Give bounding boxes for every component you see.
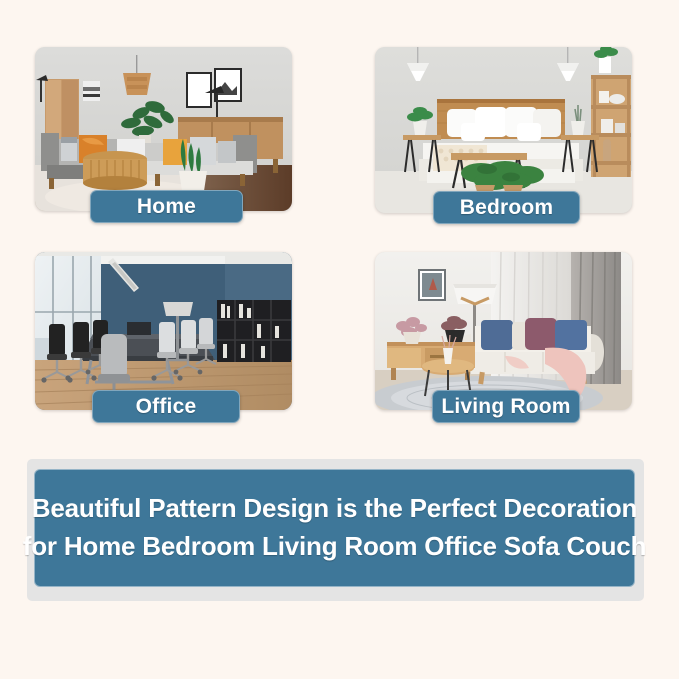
home-photo (35, 47, 292, 211)
category-label-home[interactable]: Home (90, 190, 243, 223)
category-card-home[interactable] (35, 47, 292, 211)
promo-banner-line-2: for Home Bedroom Living Room Office Sofa… (23, 528, 647, 566)
category-label-living-room[interactable]: Living Room (432, 390, 580, 423)
promo-banner-frame: Beautiful Pattern Design is the Perfect … (27, 459, 644, 601)
promo-banner-line-1: Beautiful Pattern Design is the Perfect … (32, 490, 637, 528)
promo-banner: Beautiful Pattern Design is the Perfect … (34, 469, 635, 587)
office-photo (35, 252, 292, 410)
infographic-stage: Home (0, 0, 679, 679)
category-label-bedroom-text: Bedroom (460, 196, 554, 220)
living-room-photo (375, 252, 632, 410)
category-label-home-text: Home (137, 195, 196, 219)
category-card-bedroom[interactable] (375, 47, 632, 213)
category-label-office-text: Office (136, 395, 197, 419)
category-label-bedroom[interactable]: Bedroom (433, 191, 580, 224)
category-card-office[interactable] (35, 252, 292, 410)
category-label-living-room-text: Living Room (441, 395, 570, 419)
category-label-office[interactable]: Office (92, 390, 240, 423)
category-card-living-room[interactable] (375, 252, 632, 410)
bedroom-photo (375, 47, 632, 213)
